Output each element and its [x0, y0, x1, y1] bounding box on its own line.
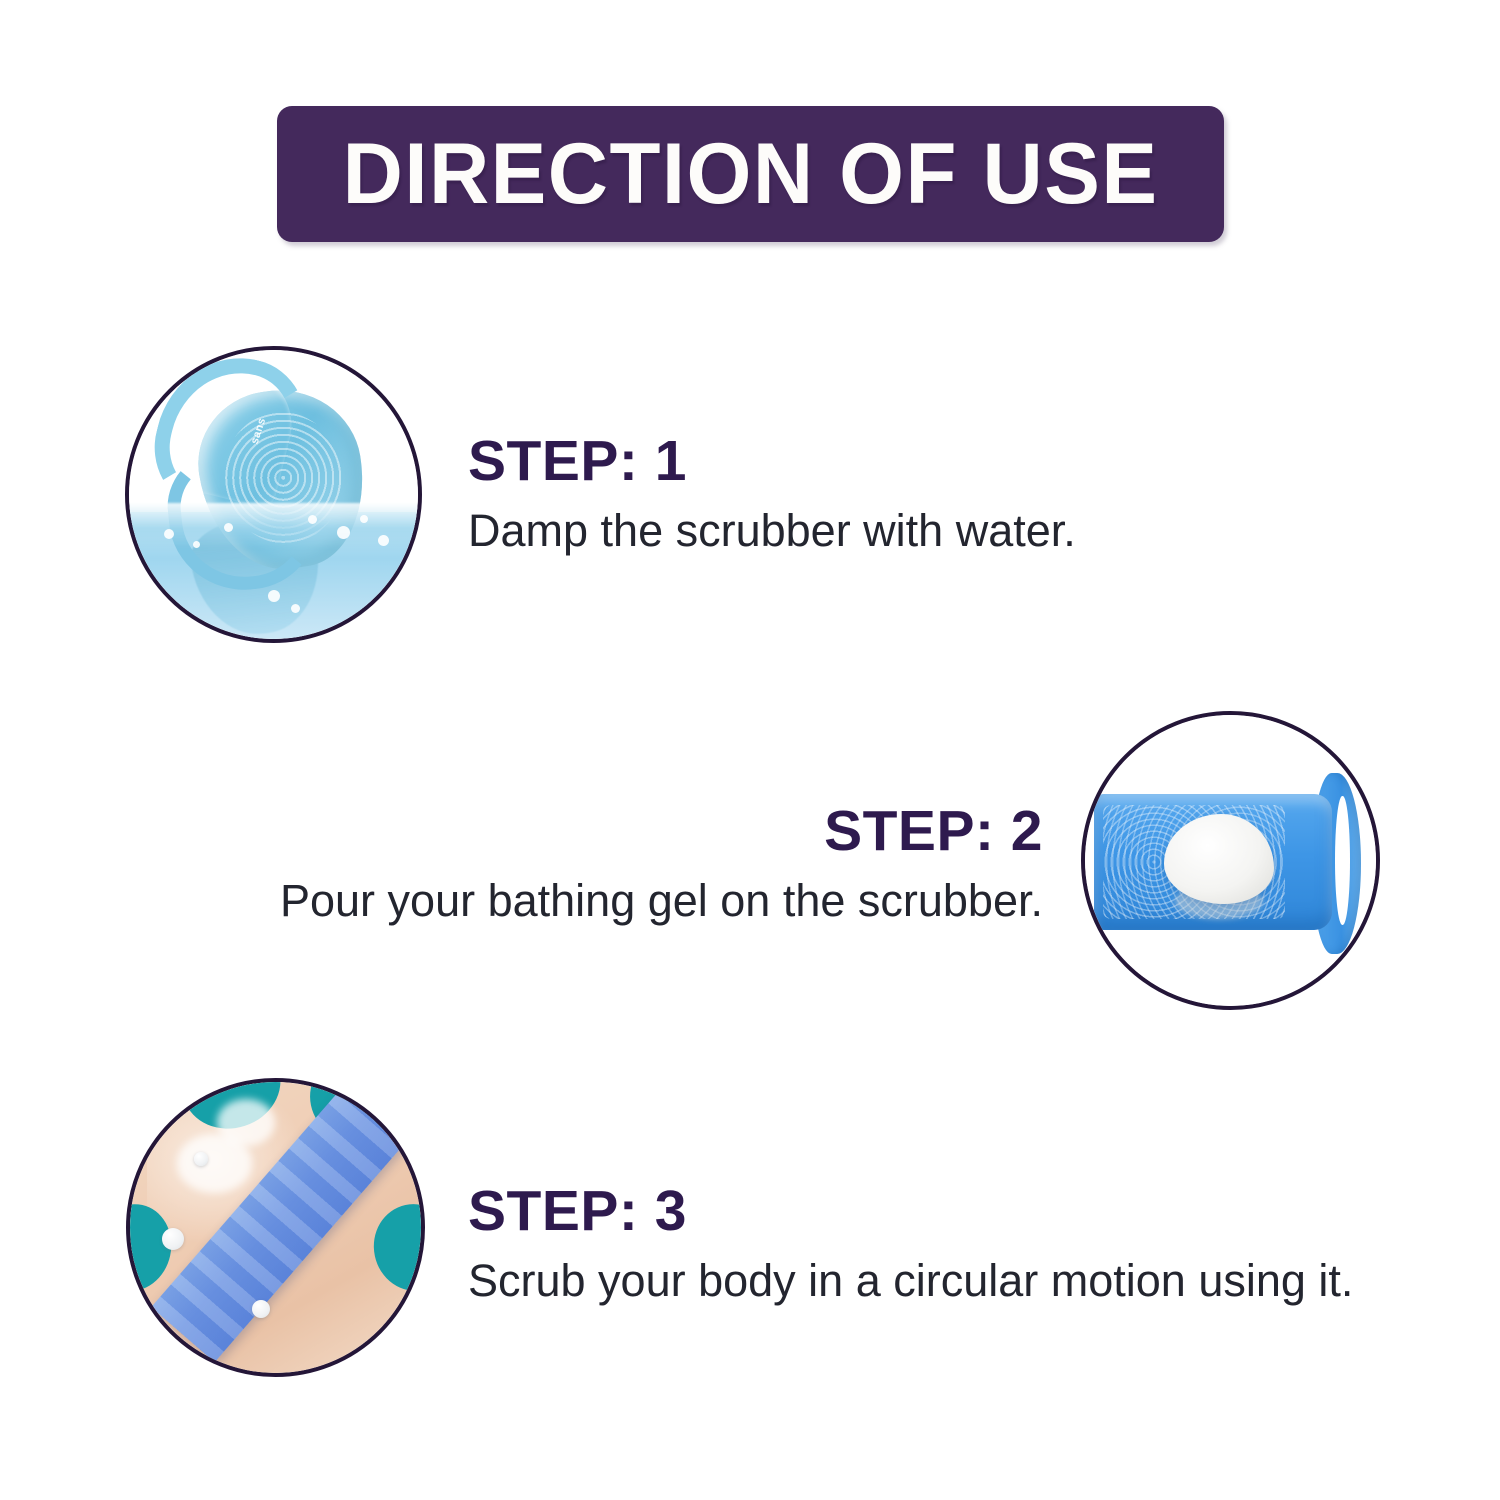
- foam-bubble: [194, 1152, 208, 1166]
- water-droplet: [268, 590, 280, 602]
- step-2-scene: [1085, 715, 1376, 1006]
- step-3-image: [126, 1078, 425, 1377]
- step-2-description: Pour your bathing gel on the scrubber.: [210, 874, 1043, 928]
- header-banner: DIRECTION OF USE: [277, 106, 1224, 242]
- step-3-text-block: STEP: 3 Scrub your body in a circular mo…: [468, 1182, 1353, 1308]
- step-2-heading: STEP: 2: [210, 802, 1043, 862]
- step-2-image: [1081, 711, 1380, 1010]
- step-1-heading: STEP: 1: [468, 432, 1076, 492]
- water-droplet: [378, 535, 389, 546]
- water-droplet: [308, 515, 317, 524]
- step-3-heading: STEP: 3: [468, 1182, 1353, 1242]
- page-title: DIRECTION OF USE: [343, 131, 1159, 217]
- water-surface-line: [129, 503, 418, 549]
- water-droplet: [193, 541, 200, 548]
- step-1-description: Damp the scrubber with water.: [468, 504, 1076, 558]
- water-droplet: [360, 515, 368, 523]
- step-3-scene: [130, 1082, 421, 1373]
- water-droplet: [164, 529, 174, 539]
- foam-bubble: [162, 1228, 184, 1250]
- infographic-page: DIRECTION OF USE sans STEP: 1 D: [0, 0, 1500, 1500]
- step-1-text-block: STEP: 1 Damp the scrubber with water.: [468, 432, 1076, 558]
- step-1-image: sans: [125, 346, 422, 643]
- step-2-text-block: STEP: 2 Pour your bathing gel on the scr…: [210, 802, 1043, 928]
- scrubber-grip-opening: [1335, 796, 1350, 924]
- step-3-description: Scrub your body in a circular motion usi…: [468, 1254, 1353, 1308]
- step-1-scene: sans: [129, 350, 418, 639]
